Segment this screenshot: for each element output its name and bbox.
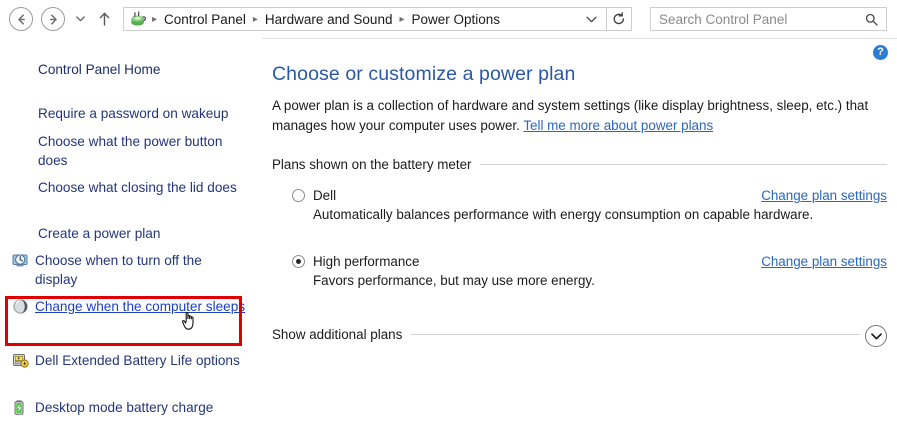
chevron-down-icon bbox=[76, 16, 85, 22]
forward-button[interactable] bbox=[41, 7, 65, 31]
display-clock-icon bbox=[12, 252, 29, 269]
sidebar-item-computer-sleeps[interactable]: Change when the computer sleeps bbox=[12, 297, 247, 316]
back-arrow-icon bbox=[15, 13, 28, 26]
search-input[interactable]: Search Control Panel bbox=[650, 7, 887, 31]
breadcrumb-item-hardware-and-sound[interactable]: Hardware and Sound bbox=[263, 12, 395, 27]
up-arrow-icon bbox=[98, 11, 111, 27]
refresh-icon bbox=[612, 12, 626, 26]
forward-arrow-icon bbox=[47, 13, 60, 26]
plan-header-dell[interactable]: Dell Change plan settings bbox=[272, 188, 887, 203]
address-bar: ▸ Control Panel ▸ Hardware and Sound ▸ P… bbox=[0, 0, 897, 39]
sidebar-item-desktop-mode-battery[interactable]: Desktop mode battery charge bbox=[12, 398, 247, 417]
breadcrumb-separator: ▸ bbox=[147, 14, 162, 25]
chevron-down-icon bbox=[871, 333, 882, 340]
plans-group-header: Plans shown on the battery meter bbox=[272, 157, 887, 172]
sidebar-item-label: Choose when to turn off the display bbox=[35, 251, 247, 289]
up-level-button[interactable] bbox=[94, 8, 114, 30]
plan-description-high-performance: Favors performance, but may use more ene… bbox=[313, 273, 887, 288]
plan-row-dell: Dell Change plan settings Automatically … bbox=[272, 188, 887, 222]
sidebar-item-label: Create a power plan bbox=[38, 224, 160, 243]
radio-high-performance[interactable] bbox=[292, 255, 305, 268]
breadcrumb-dropdown-button[interactable] bbox=[586, 16, 606, 23]
sleep-moon-icon bbox=[12, 298, 29, 315]
main-content: Choose or customize a power plan A power… bbox=[262, 38, 897, 429]
breadcrumb-separator: ▸ bbox=[248, 14, 263, 25]
group-divider-line bbox=[411, 334, 860, 335]
refresh-button[interactable] bbox=[606, 7, 632, 31]
search-placeholder: Search Control Panel bbox=[651, 12, 787, 27]
sidebar-item-label: Choose what the power button does bbox=[38, 132, 243, 170]
chevron-down-icon bbox=[586, 16, 597, 23]
plan-description-dell: Automatically balances performance with … bbox=[313, 207, 887, 222]
sidebar-item-label: Control Panel Home bbox=[38, 60, 160, 79]
sidebar-item-dell-extended-battery[interactable]: Dell Extended Battery Life options bbox=[12, 351, 247, 370]
plan-header-high-performance[interactable]: High performance Change plan settings bbox=[272, 254, 887, 269]
search-icon[interactable] bbox=[865, 13, 886, 26]
radio-dell[interactable] bbox=[292, 189, 305, 202]
mouse-cursor-hand-icon bbox=[180, 308, 200, 332]
control-panel-icon bbox=[129, 10, 147, 28]
sidebar-item-turn-off-display[interactable]: Choose when to turn off the display bbox=[12, 251, 247, 289]
breadcrumb-separator: ▸ bbox=[394, 14, 409, 25]
additional-plans-label: Show additional plans bbox=[272, 327, 411, 342]
page-description: A power plan is a collection of hardware… bbox=[272, 96, 887, 136]
sidebar-item-require-password[interactable]: Require a password on wakeup bbox=[38, 104, 253, 123]
page-title: Choose or customize a power plan bbox=[272, 63, 575, 86]
change-plan-settings-high-performance[interactable]: Change plan settings bbox=[761, 254, 887, 269]
change-plan-settings-dell[interactable]: Change plan settings bbox=[761, 188, 887, 203]
recent-locations-button[interactable] bbox=[72, 8, 88, 30]
sidebar-item-label: Require a password on wakeup bbox=[38, 104, 228, 123]
sidebar-item-power-button[interactable]: Choose what the power button does bbox=[38, 132, 243, 170]
sidebar-item-create-power-plan[interactable]: Create a power plan bbox=[38, 224, 243, 243]
plan-name-dell: Dell bbox=[313, 188, 336, 203]
group-divider-line bbox=[480, 164, 887, 165]
breadcrumb-item-power-options[interactable]: Power Options bbox=[410, 12, 503, 27]
sidebar-item-label: Desktop mode battery charge bbox=[35, 398, 213, 417]
back-button[interactable] bbox=[9, 7, 33, 31]
green-battery-icon bbox=[12, 399, 29, 416]
sidebar-item-closing-lid[interactable]: Choose what closing the lid does bbox=[38, 178, 243, 197]
sidebar: Control Panel Home Require a password on… bbox=[0, 38, 262, 429]
breadcrumb-bar[interactable]: ▸ Control Panel ▸ Hardware and Sound ▸ P… bbox=[123, 7, 607, 31]
sidebar-item-label: Choose what closing the lid does bbox=[38, 178, 237, 197]
breadcrumb-item-control-panel[interactable]: Control Panel bbox=[162, 12, 248, 27]
learn-more-link[interactable]: Tell me more about power plans bbox=[523, 118, 713, 133]
plans-group-label: Plans shown on the battery meter bbox=[272, 157, 480, 172]
plan-row-high-performance: High performance Change plan settings Fa… bbox=[272, 254, 887, 288]
sidebar-item-label: Change when the computer sleeps bbox=[35, 297, 245, 316]
dell-battery-icon bbox=[12, 352, 29, 369]
show-additional-plans-toggle[interactable] bbox=[865, 325, 887, 347]
additional-plans-header: Show additional plans bbox=[272, 327, 860, 342]
sidebar-item-label: Dell Extended Battery Life options bbox=[35, 351, 240, 370]
plan-name-high-performance: High performance bbox=[313, 254, 419, 269]
sidebar-item-control-panel-home[interactable]: Control Panel Home bbox=[38, 60, 248, 79]
